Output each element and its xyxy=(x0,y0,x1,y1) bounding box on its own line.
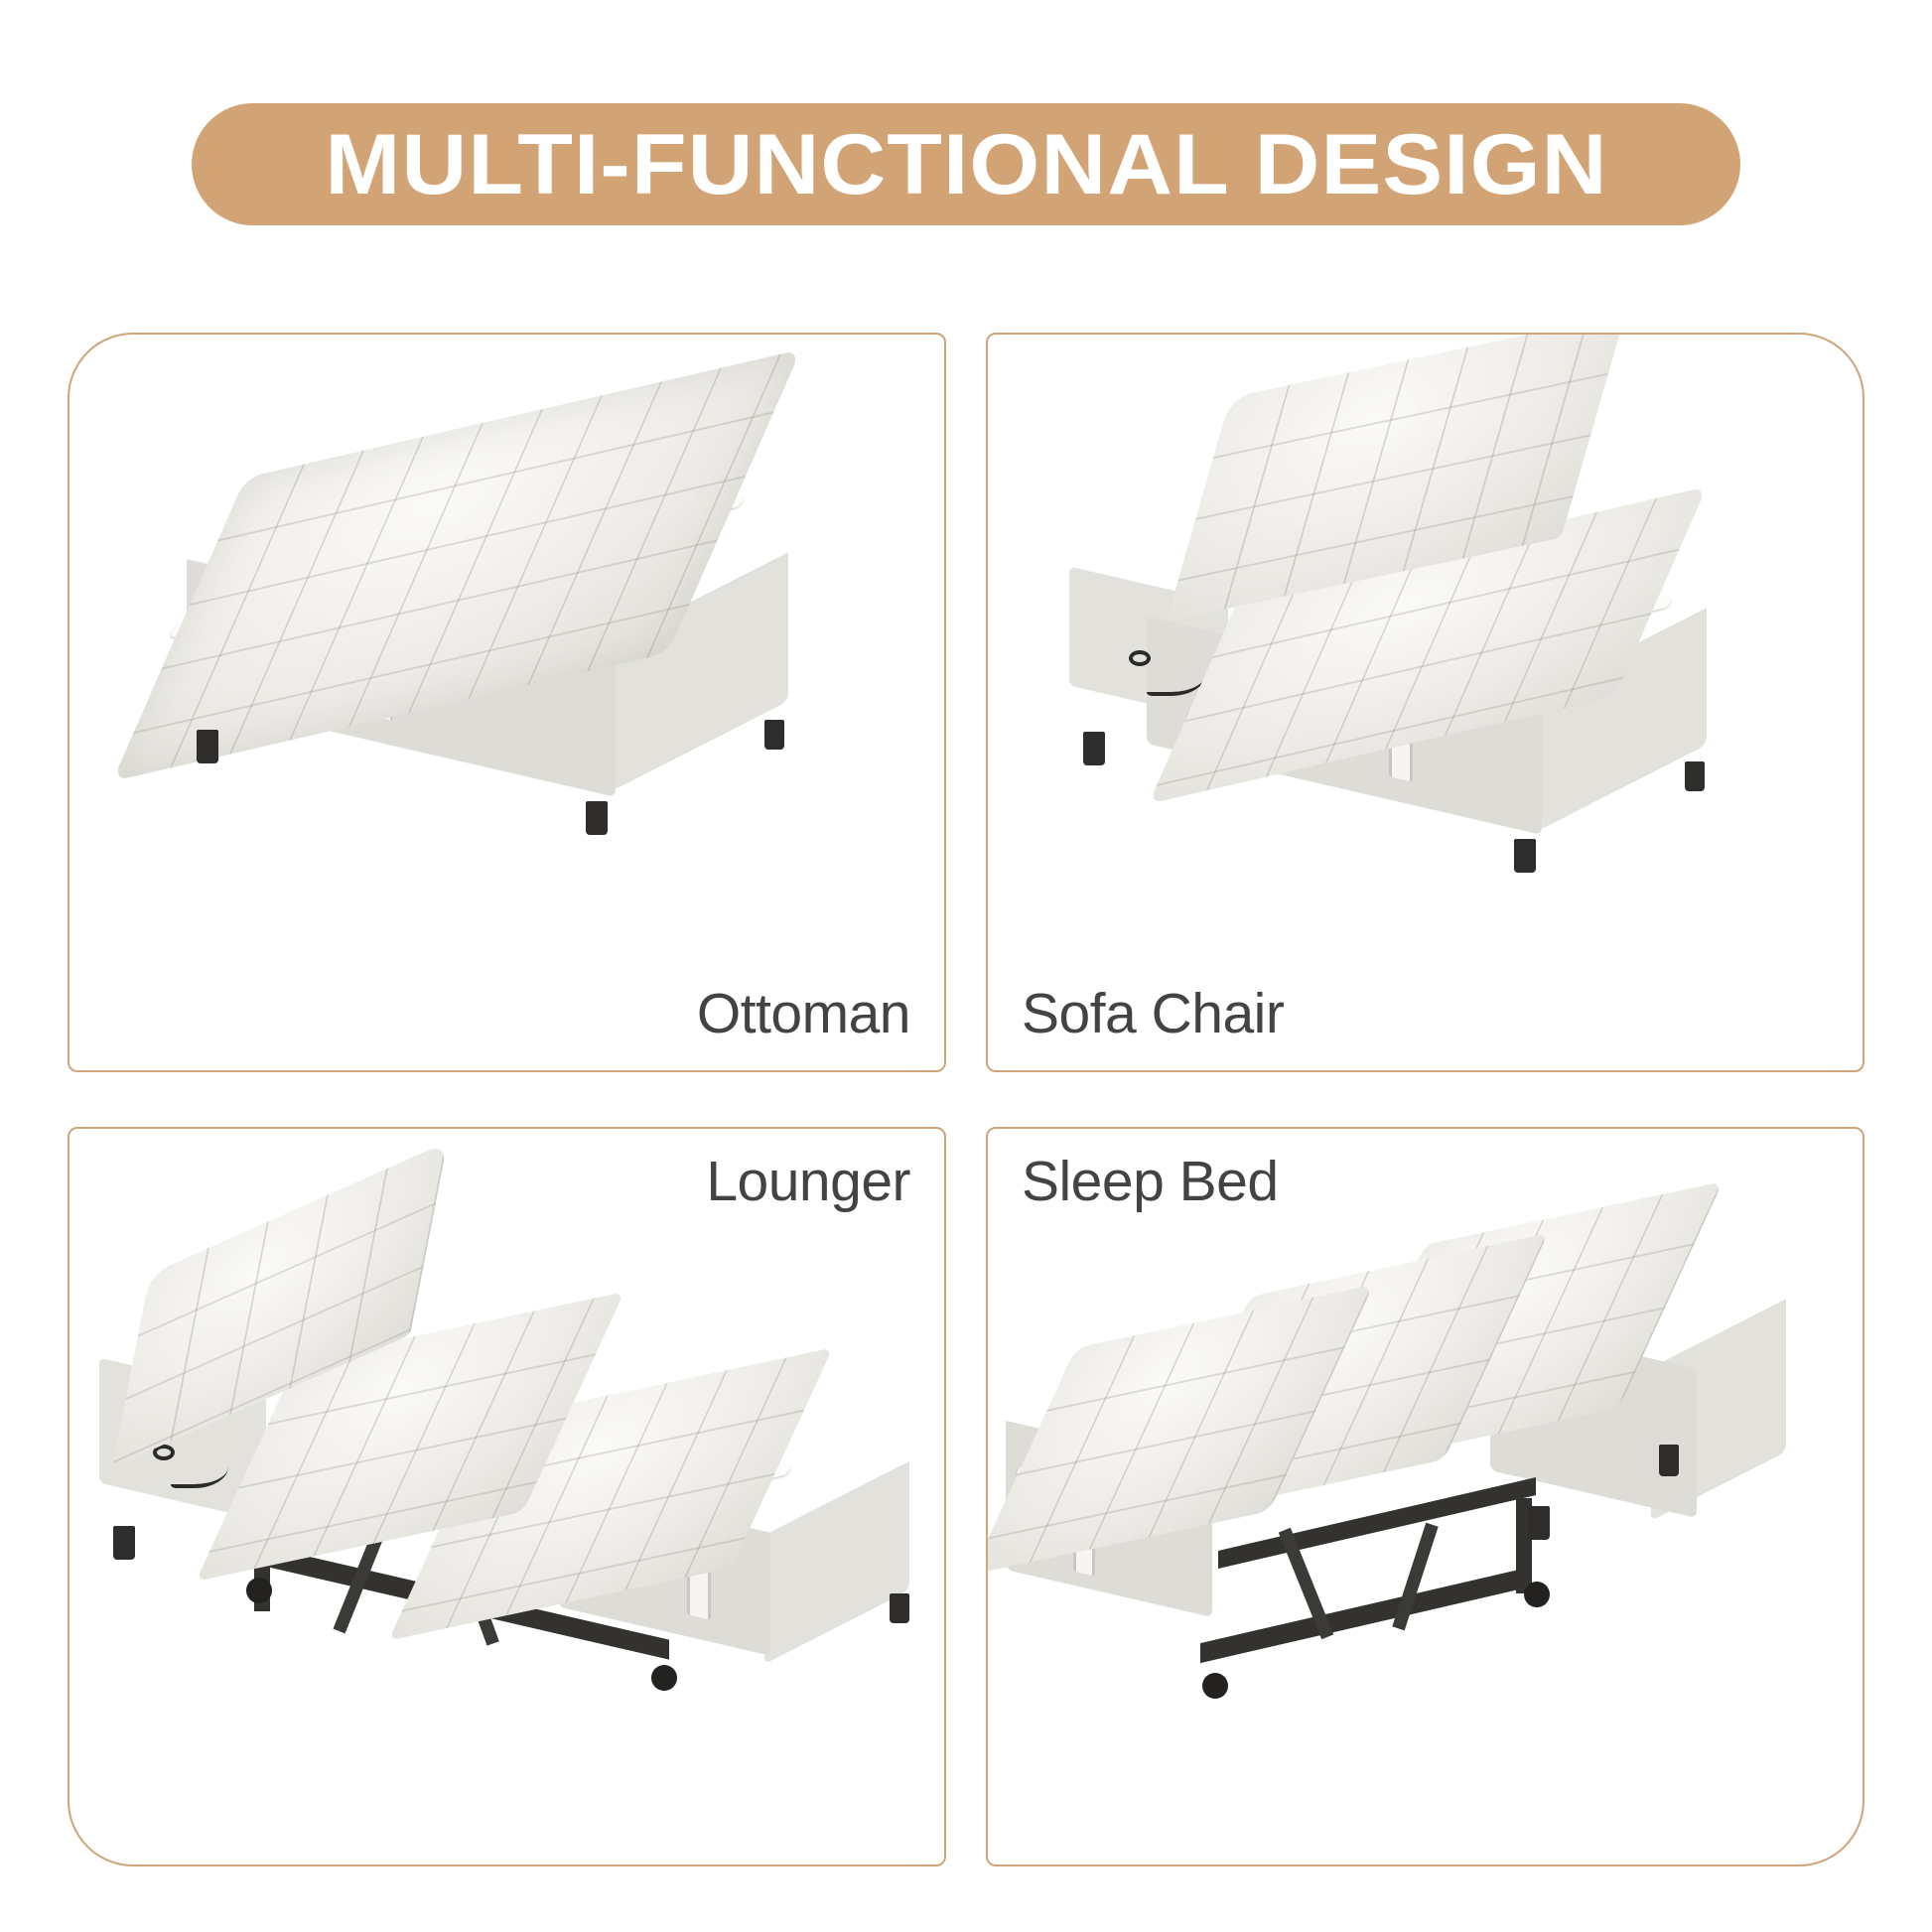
panel-label-sleep-bed: Sleep Bed xyxy=(1022,1149,1279,1214)
lounger-caster-right xyxy=(651,1665,677,1691)
panel-label-ottoman: Ottoman xyxy=(697,981,910,1046)
panel-label-lounger: Lounger xyxy=(706,1149,910,1214)
sleep-bed-leg-right-back xyxy=(1659,1445,1679,1476)
lounger-leg-left xyxy=(113,1526,135,1560)
lounger-caster-left xyxy=(246,1578,272,1603)
infographic-page: MULTI-FUNCTIONAL DESIGN Ottoman xyxy=(0,0,1932,1932)
sofa-chair-leg-front xyxy=(1514,839,1536,873)
ottoman-leg-back-right xyxy=(764,720,784,750)
lounger-illustration xyxy=(69,1129,944,1864)
ottoman-leg-front-right xyxy=(586,801,608,835)
sofa-chair-leg-left xyxy=(1083,732,1105,765)
panel-sofa-chair[interactable]: Sofa Chair xyxy=(986,333,1864,1072)
sofa-chair-leg-right xyxy=(1685,761,1705,791)
sleep-bed-frame-bottom-rail xyxy=(1200,1568,1528,1663)
ottoman-illustration xyxy=(69,335,944,1070)
page-title: MULTI-FUNCTIONAL DESIGN xyxy=(325,122,1607,207)
panel-lounger[interactable]: Lounger xyxy=(68,1127,946,1866)
sleep-bed-illustration xyxy=(988,1129,1863,1864)
panel-ottoman[interactable]: Ottoman xyxy=(68,333,946,1072)
header-banner: MULTI-FUNCTIONAL DESIGN xyxy=(192,103,1740,225)
sleep-bed-caster-right xyxy=(1524,1582,1550,1607)
lounger-side-panel xyxy=(764,1461,909,1664)
sleep-bed-caster-left xyxy=(1202,1673,1228,1699)
ottoman-leg-front-left xyxy=(197,730,218,763)
sofa-chair-illustration xyxy=(988,335,1863,1070)
sleep-bed-leg-right-front xyxy=(1528,1506,1550,1540)
sleep-bed-frame-brace-2 xyxy=(1392,1523,1438,1631)
panel-grid: Ottoman Sofa Chair xyxy=(68,333,1864,1866)
panel-sleep-bed[interactable]: Sleep Bed xyxy=(986,1127,1864,1866)
lounger-leg-right xyxy=(890,1593,909,1623)
panel-label-sofa-chair: Sofa Chair xyxy=(1022,981,1284,1046)
